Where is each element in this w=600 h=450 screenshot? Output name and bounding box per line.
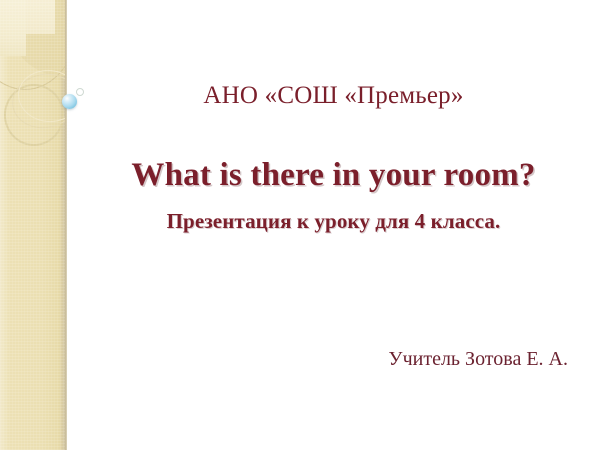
- organization-name: АНО «СОШ «Премьер»: [67, 82, 600, 110]
- author-credit: Учитель Зотова Е. А.: [388, 348, 568, 371]
- left-ornament-panel: [0, 0, 67, 450]
- presentation-slide: АНО «СОШ «Премьер» What is there in your…: [0, 0, 600, 450]
- slide-text-area: АНО «СОШ «Премьер» What is there in your…: [67, 0, 600, 450]
- slide-subtitle: Презентация к уроку для 4 класса.: [67, 209, 600, 233]
- page-title: What is there in your room?: [67, 157, 600, 193]
